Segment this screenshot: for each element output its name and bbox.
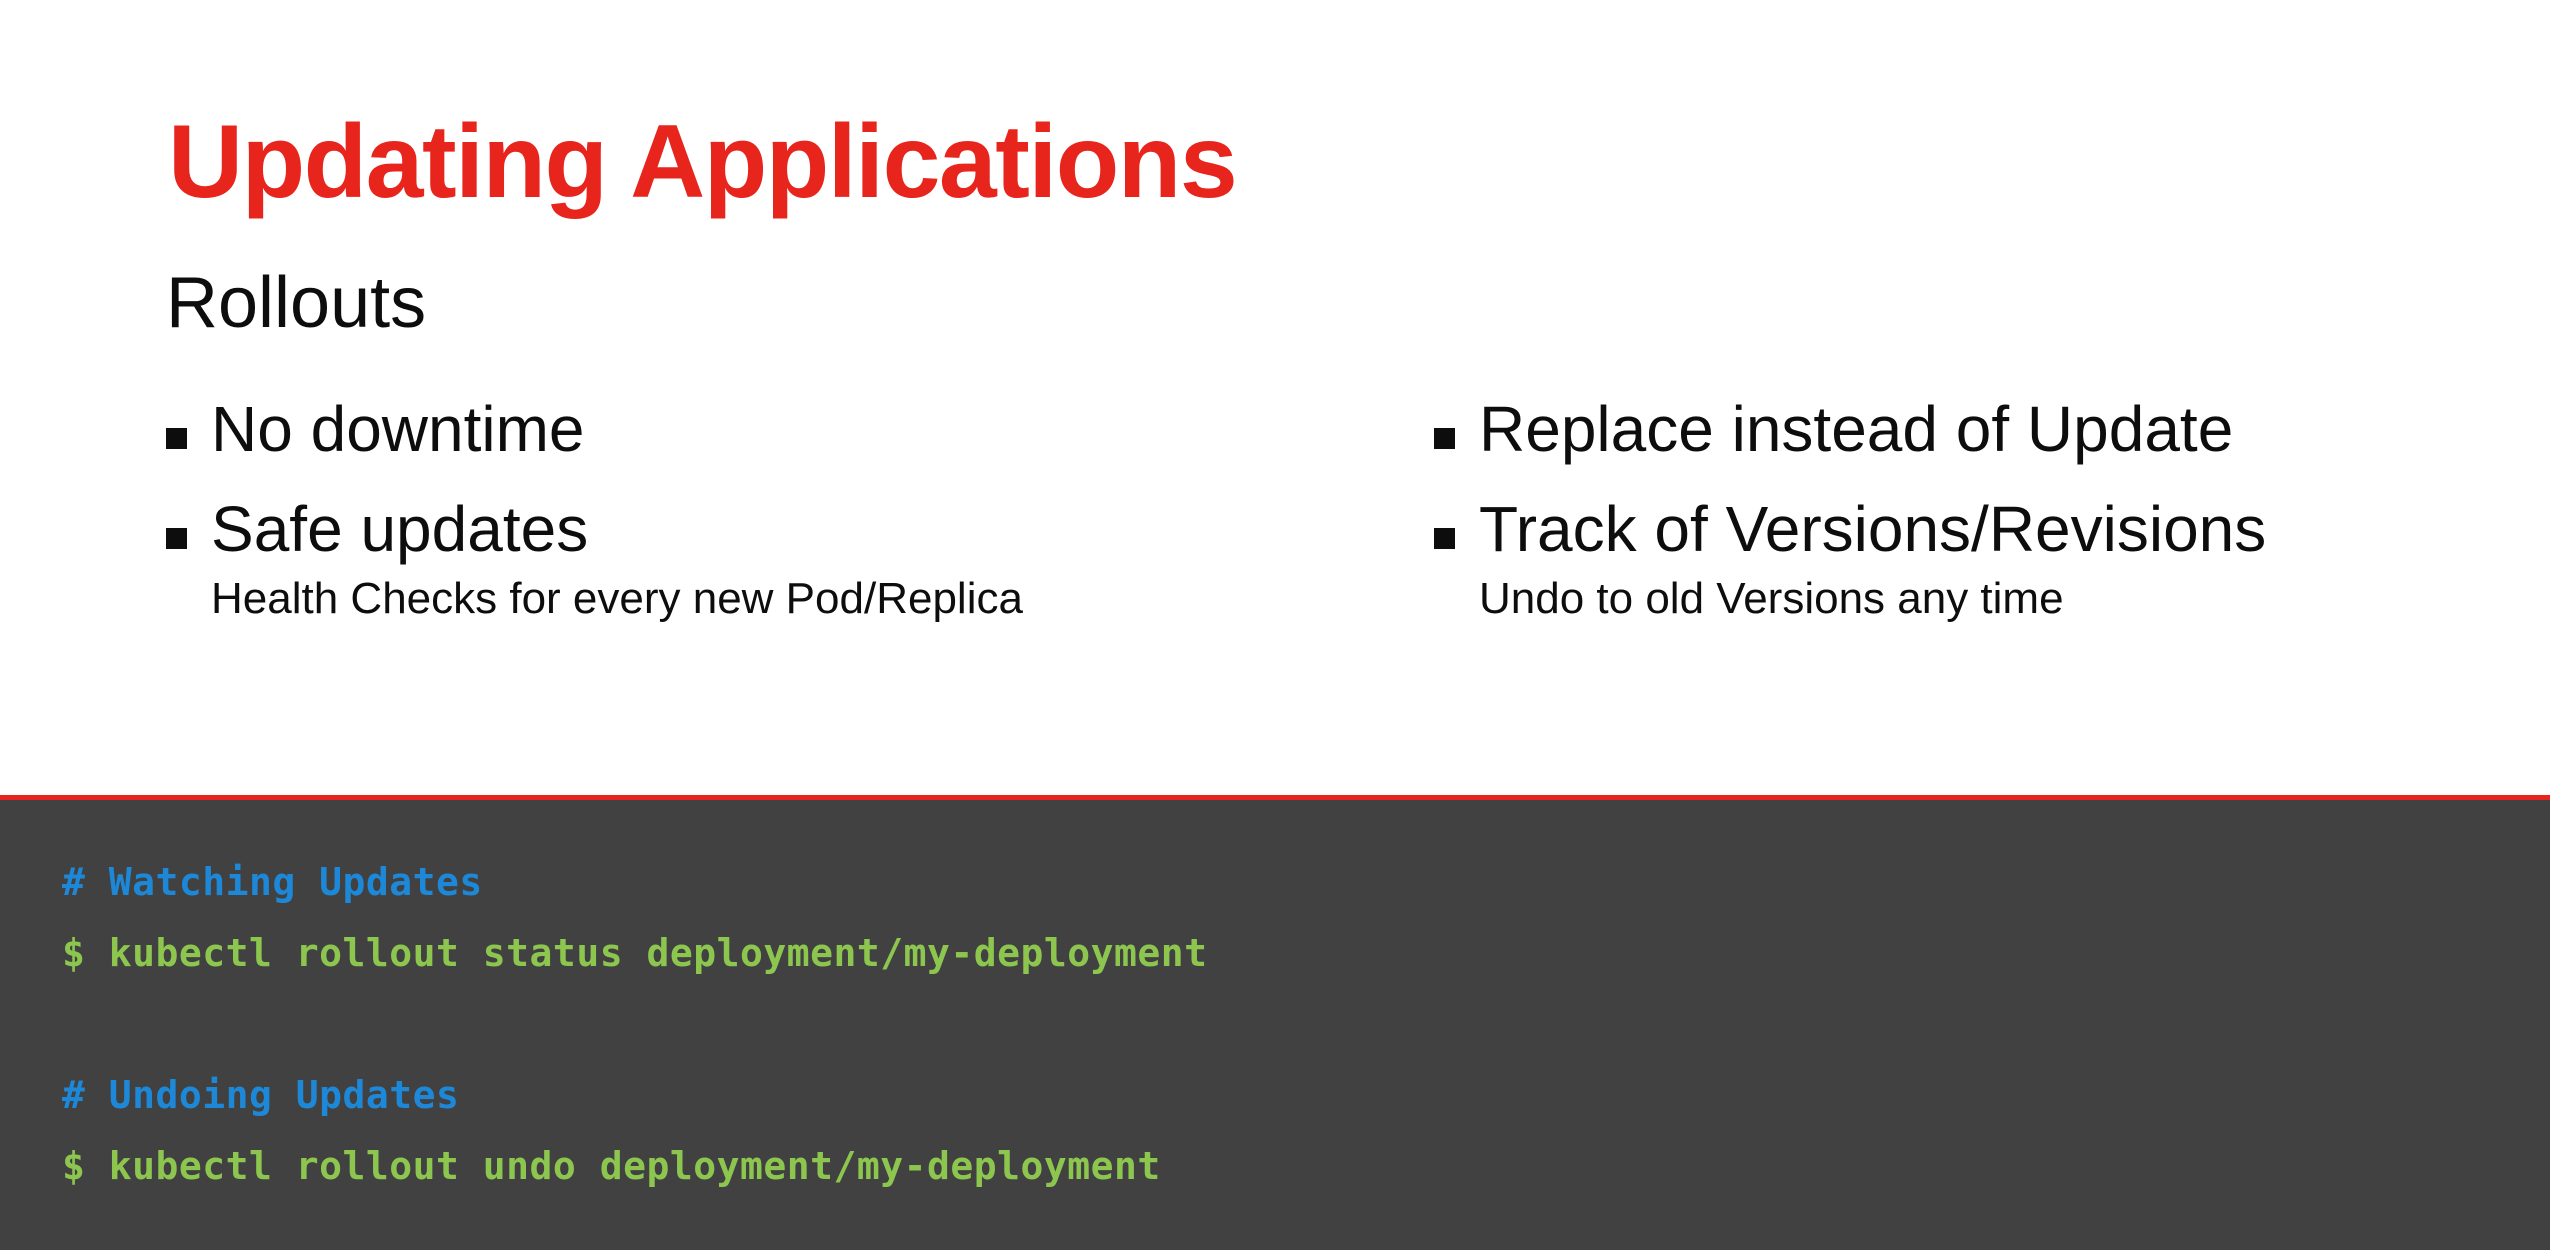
list-item: Replace instead of Update [1434,392,2534,468]
code-line-blank [62,989,2550,1060]
terminal-code-block: # Watching Updates $ kubectl rollout sta… [0,795,2550,1250]
section-heading-rollouts: Rollouts [166,264,426,343]
slide-root: Updating Applications Rollouts No downti… [0,0,2550,1250]
list-item-label: Safe updates [211,492,588,568]
square-bullet-icon [1434,528,1455,549]
list-item-subtext: Undo to old Versions any time [1479,573,2534,626]
square-bullet-icon [1434,428,1455,449]
code-line-command: $ kubectl rollout status deployment/my-d… [62,918,2550,989]
list-item-label: No downtime [211,392,585,468]
list-item-label: Track of Versions/Revisions [1479,492,2266,568]
list-item: No downtime [166,392,1396,468]
square-bullet-icon [166,428,187,449]
list-item-label: Replace instead of Update [1479,392,2233,468]
square-bullet-icon [166,528,187,549]
code-line-command: $ kubectl rollout undo deployment/my-dep… [62,1131,2550,1202]
spacer [1434,474,2534,492]
page-title: Updating Applications [168,104,1236,220]
spacer [166,474,1396,492]
code-line-comment: # Watching Updates [62,847,2550,918]
list-item: Track of Versions/Revisions [1434,492,2534,568]
bullet-column-left: No downtime Safe updates Health Checks f… [166,392,1396,626]
bullet-column-right: Replace instead of Update Track of Versi… [1434,392,2534,626]
list-item: Safe updates [166,492,1396,568]
code-line-comment: # Undoing Updates [62,1060,2550,1131]
list-item-subtext: Health Checks for every new Pod/Replica [211,573,1396,626]
